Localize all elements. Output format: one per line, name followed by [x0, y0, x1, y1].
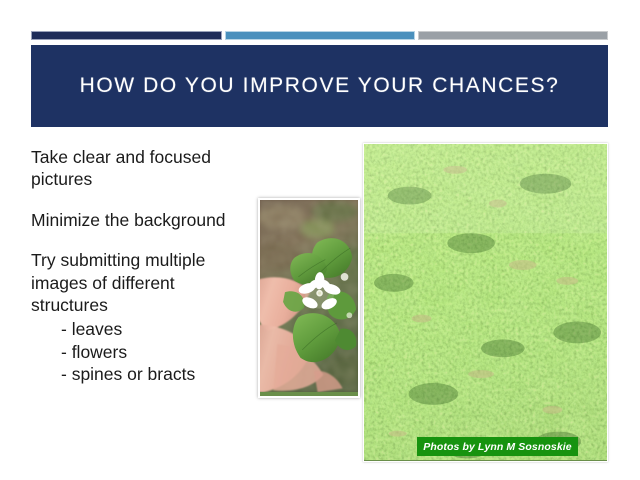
- top-accent-bar-blue: [225, 31, 415, 40]
- body-paragraph-1: Take clear and focused pictures: [31, 146, 253, 191]
- body-paragraph-2: Minimize the background: [31, 209, 253, 231]
- sub-list-item-spines-or-bracts: - spines or bracts: [61, 363, 253, 385]
- presentation-slide: HOW DO YOU IMPROVE YOUR CHANCES? Take cl…: [0, 0, 640, 480]
- body-paragraph-3: Try submitting multiple images of differ…: [31, 249, 253, 316]
- body-sub-list: - leaves - flowers - spines or bracts: [31, 318, 253, 385]
- photo-credit-text: Photos by Lynn M Sosnoskie: [423, 441, 571, 453]
- sub-list-item-flowers: - flowers: [61, 341, 253, 363]
- slide-title-band: HOW DO YOU IMPROVE YOUR CHANCES?: [31, 45, 608, 127]
- photo-credit-bar: Photos by Lynn M Sosnoskie: [417, 437, 578, 456]
- top-accent-bar-gray: [418, 31, 608, 40]
- slide-body-text: Take clear and focused pictures Minimize…: [31, 146, 253, 386]
- top-accent-bar-dark: [31, 31, 222, 40]
- field-of-weeds-photo: [363, 143, 608, 462]
- field-photo-artwork: [364, 144, 607, 460]
- sub-list-item-leaves: - leaves: [61, 318, 253, 340]
- slide-title: HOW DO YOU IMPROVE YOUR CHANCES?: [80, 74, 560, 98]
- hand-photo-artwork: [260, 200, 358, 392]
- hand-holding-chickweed-photo: [258, 198, 360, 398]
